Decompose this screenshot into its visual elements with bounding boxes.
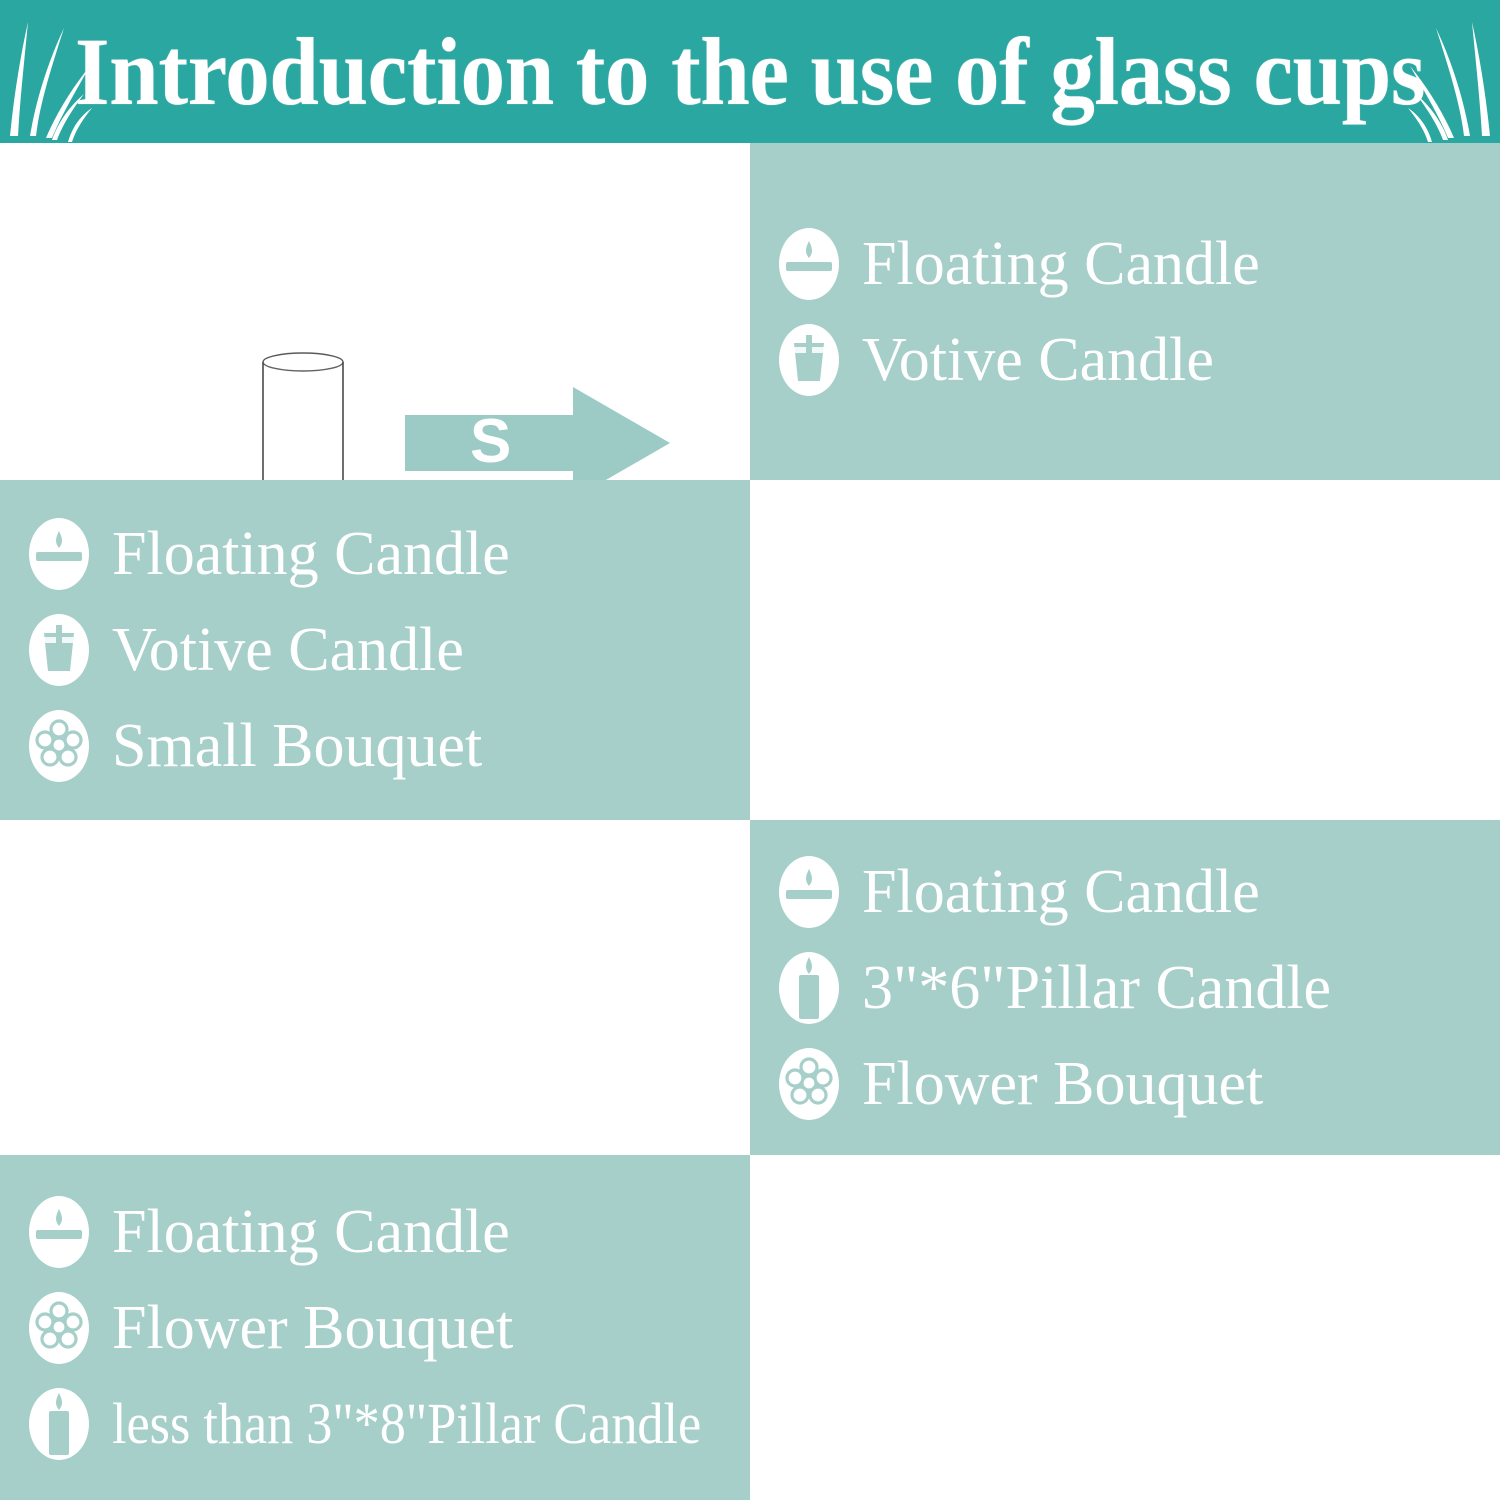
feature-list-s: Floating Candle Votive Candle xyxy=(750,143,1500,480)
list-item-label: Small Bouquet xyxy=(112,711,482,781)
floating-candle-icon xyxy=(26,515,92,593)
list-item-label: Flower Bouquet xyxy=(112,1293,513,1363)
list-item-label: less than 3"*8"Pillar Candle xyxy=(112,1389,701,1459)
header-band: Introduction to the use of glass cups xyxy=(0,0,1500,143)
panel-size-s-image: S xyxy=(0,143,750,480)
size-label-s: S xyxy=(470,411,511,473)
list-item-label: Floating Candle xyxy=(862,857,1260,927)
pillar-candle-icon xyxy=(776,949,842,1027)
list-item: Floating Candle xyxy=(776,853,1486,931)
floating-candle-icon xyxy=(776,225,842,303)
floating-candle-icon xyxy=(776,853,842,931)
page-title: Introduction to the use of glass cups xyxy=(53,0,1448,143)
list-item: Flower Bouquet xyxy=(776,1045,1486,1123)
infographic-root: Introduction to the use of glass cups S xyxy=(0,0,1500,1500)
flower-icon xyxy=(26,1289,92,1367)
panel-size-m-image: M xyxy=(750,480,1500,820)
list-item: Small Bouquet xyxy=(26,707,736,785)
list-item-label: Floating Candle xyxy=(112,519,510,589)
panel-size-xl-image: XL xyxy=(750,1155,1500,1500)
flower-icon xyxy=(26,707,92,785)
panel-size-m-uses: Floating Candle Votive Candle xyxy=(0,480,750,820)
floating-candle-icon xyxy=(26,1193,92,1271)
list-item: less than 3"*8"Pillar Candle xyxy=(26,1385,736,1463)
list-item: Floating Candle xyxy=(26,515,736,593)
list-item: Votive Candle xyxy=(776,321,1486,399)
list-item-label: 3"*6"Pillar Candle xyxy=(862,953,1331,1023)
list-item: 3"*6"Pillar Candle xyxy=(776,949,1486,1027)
list-item-label: Floating Candle xyxy=(112,1197,510,1267)
list-item-label: Floating Candle xyxy=(862,229,1260,299)
list-item: Floating Candle xyxy=(776,225,1486,303)
list-item: Votive Candle xyxy=(26,611,736,689)
panel-size-l-uses: Floating Candle 3"*6"Pillar Candle xyxy=(750,820,1500,1155)
list-item-label: Votive Candle xyxy=(862,325,1214,395)
feature-list-xl: Floating Candle Flower Bouquet xyxy=(0,1155,750,1500)
list-item: Flower Bouquet xyxy=(26,1289,736,1367)
panel-size-s-uses: Floating Candle Votive Candle xyxy=(750,143,1500,480)
pillar-candle-icon xyxy=(26,1385,92,1463)
votive-candle-icon xyxy=(776,321,842,399)
feature-list-m: Floating Candle Votive Candle xyxy=(0,480,750,820)
feature-list-l: Floating Candle 3"*6"Pillar Candle xyxy=(750,820,1500,1155)
votive-candle-icon xyxy=(26,611,92,689)
flower-icon xyxy=(776,1045,842,1123)
list-item-label: Flower Bouquet xyxy=(862,1049,1263,1119)
panel-size-l-image: L xyxy=(0,820,750,1155)
list-item-label: Votive Candle xyxy=(112,615,464,685)
list-item: Floating Candle xyxy=(26,1193,736,1271)
panel-size-xl-uses: Floating Candle Flower Bouquet xyxy=(0,1155,750,1500)
